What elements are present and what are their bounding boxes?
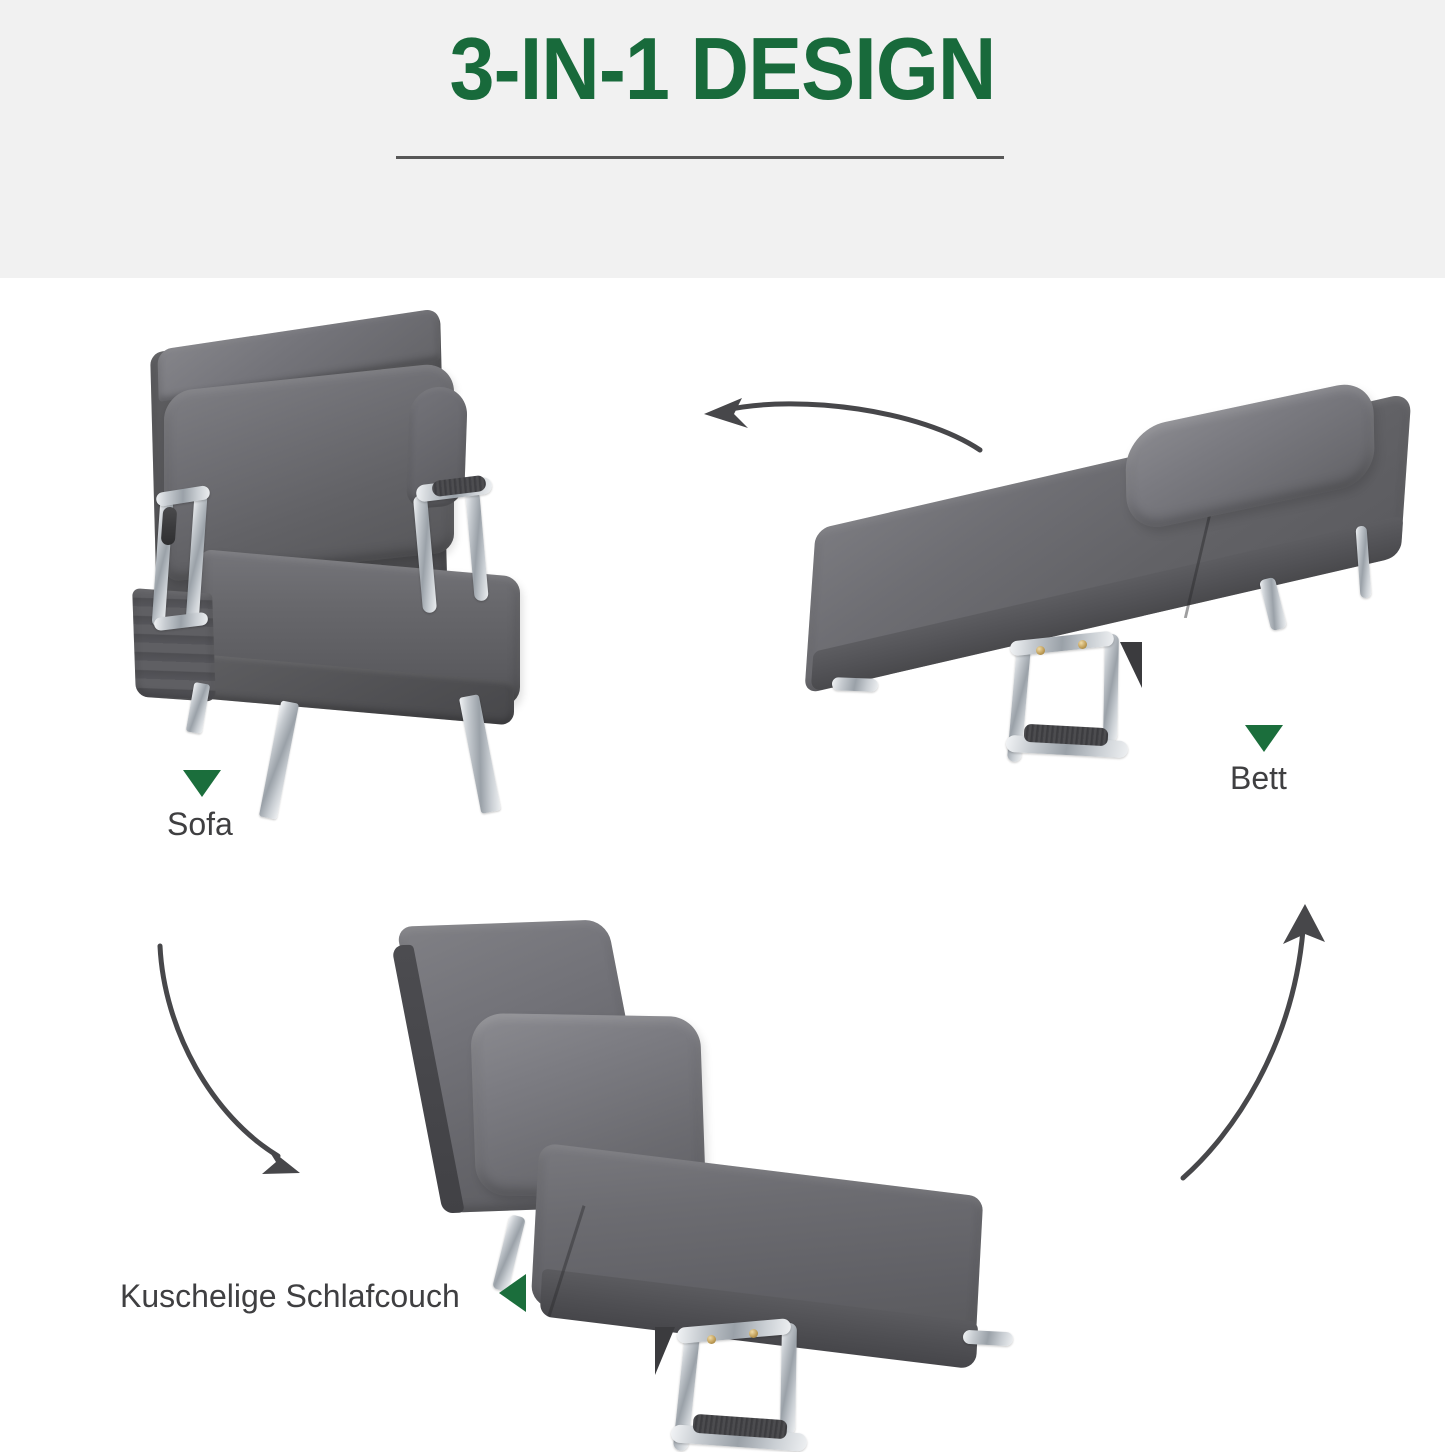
couch-gusset bbox=[655, 1327, 675, 1375]
product-view-schlafcouch bbox=[415, 923, 1075, 1423]
sofa-label: Sofa bbox=[167, 806, 233, 843]
couch-handle-leg-right bbox=[780, 1323, 797, 1435]
bed-foot-left bbox=[832, 677, 878, 692]
bed-leg-mid bbox=[1259, 577, 1287, 631]
arrow-sofa-to-couch bbox=[150, 940, 320, 1190]
bett-label: Bett bbox=[1230, 760, 1287, 797]
sofa-leg-front-left bbox=[259, 700, 299, 819]
page-title: 3-IN-1 DESIGN bbox=[58, 18, 1387, 120]
bett-marker-icon bbox=[1245, 725, 1283, 752]
bed-handle-leg-right bbox=[1103, 634, 1119, 742]
couch-rivet-1 bbox=[707, 1335, 716, 1344]
arrow-bed-to-sofa bbox=[690, 388, 990, 468]
header-band: 3-IN-1 DESIGN bbox=[0, 0, 1445, 278]
schlafcouch-marker-icon bbox=[499, 1274, 526, 1312]
sofa-marker-icon bbox=[183, 770, 221, 797]
diagram-canvas: Sofa Bett bbox=[0, 278, 1445, 1445]
bed-rivet-1 bbox=[1036, 646, 1045, 655]
title-divider bbox=[396, 156, 1004, 159]
arrow-couch-to-bed bbox=[1175, 896, 1355, 1186]
bed-gusset bbox=[1120, 642, 1142, 688]
bed-rivet-2 bbox=[1078, 640, 1087, 649]
product-view-sofa bbox=[140, 323, 570, 833]
schlafcouch-label: Kuschelige Schlafcouch bbox=[120, 1278, 460, 1315]
couch-rivet-2 bbox=[749, 1329, 758, 1338]
couch-foot-far bbox=[963, 1330, 1014, 1347]
